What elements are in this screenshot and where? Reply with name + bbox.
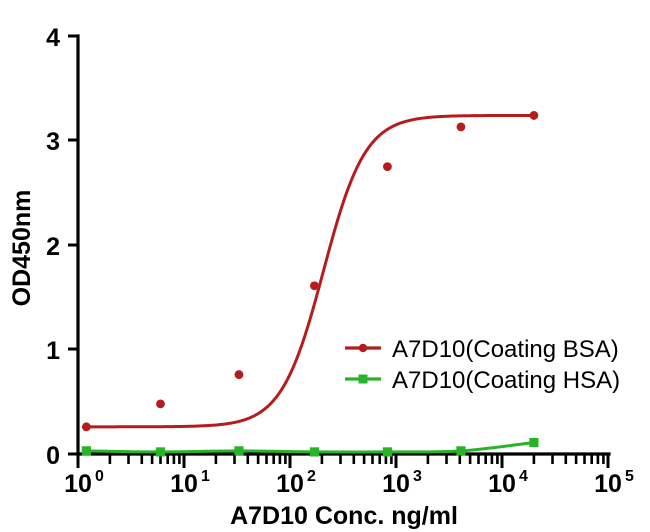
x-tick-base-4: 10	[488, 470, 516, 498]
data-point	[310, 281, 319, 290]
y-tick-label-0: 0	[46, 442, 60, 470]
x-axis-tick-labels: 10 0 10 1 10 2 10 3 10 4 10 5	[64, 468, 634, 498]
x-tick-exp-5: 5	[625, 468, 634, 485]
data-point	[529, 438, 538, 447]
data-point	[457, 123, 466, 132]
data-point	[530, 111, 539, 120]
y-axis-label: OD450nm	[8, 190, 36, 307]
x-tick-base-2: 10	[276, 470, 304, 498]
x-tick-exp-0: 0	[95, 468, 104, 485]
data-point	[82, 446, 91, 455]
x-tick-exp-2: 2	[307, 468, 316, 485]
legend-label-bsa: A7D10(Coating BSA)	[392, 336, 619, 363]
x-tick-base-3: 10	[382, 470, 410, 498]
x-tick-base-5: 10	[594, 470, 622, 498]
x-tick-exp-3: 3	[413, 468, 422, 485]
data-point	[310, 447, 319, 456]
x-tick-exp-1: 1	[201, 468, 210, 485]
y-tick-label-1: 1	[46, 337, 60, 365]
data-point	[235, 370, 244, 379]
data-point	[456, 446, 465, 455]
chart-container: OD450nm 4 3 2 1 0	[0, 0, 650, 532]
legend-entry-hsa[interactable]: A7D10(Coating HSA)	[345, 367, 620, 394]
y-tick-label-4: 4	[46, 24, 60, 52]
data-point	[156, 399, 165, 408]
x-tick-base-0: 10	[64, 470, 92, 498]
y-tick-label-2: 2	[46, 233, 60, 261]
y-tick-label-3: 3	[46, 128, 60, 156]
legend-entry-bsa[interactable]: A7D10(Coating BSA)	[345, 336, 619, 363]
data-point	[82, 422, 91, 431]
data-point	[383, 162, 392, 171]
legend-marker-square-hsa	[359, 375, 368, 384]
elisa-dose-response-chart: OD450nm 4 3 2 1 0	[0, 0, 650, 532]
series-layer	[82, 111, 539, 456]
x-axis-label: A7D10 Conc. ng/ml	[230, 502, 458, 530]
x-tick-exp-4: 4	[519, 468, 528, 485]
x-tick-base-1: 10	[170, 470, 198, 498]
legend-marker-circle-bsa	[359, 344, 367, 352]
legend: A7D10(Coating BSA) A7D10(Coating HSA)	[345, 336, 620, 394]
data-point	[383, 447, 392, 456]
data-point	[234, 446, 243, 455]
legend-label-hsa: A7D10(Coating HSA)	[392, 367, 620, 394]
data-point	[156, 447, 165, 456]
